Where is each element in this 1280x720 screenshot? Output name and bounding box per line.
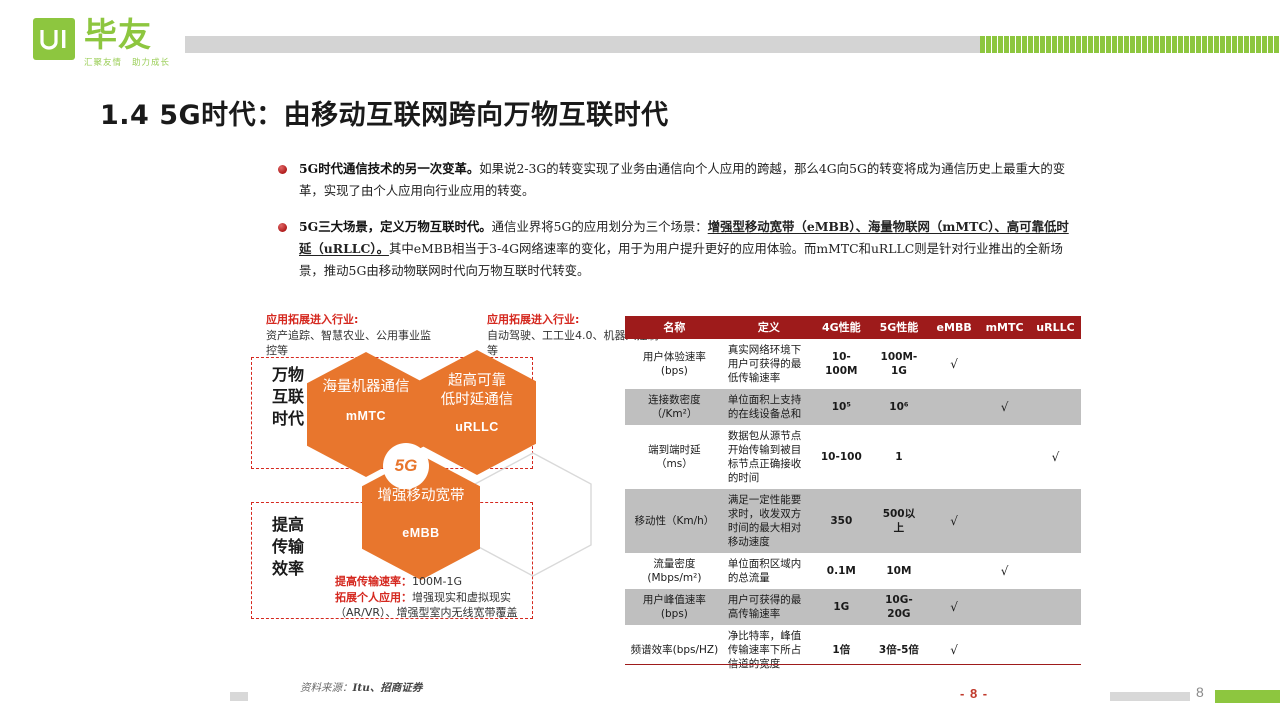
cell-embb-check: √ (929, 339, 979, 389)
cell-4g: 1G (814, 589, 869, 625)
cell-mmtc-check (979, 339, 1030, 389)
cell-4g: 10-100 (814, 425, 869, 489)
ui-logo-icon (33, 18, 75, 60)
cell-4g: 0.1M (814, 553, 869, 589)
side-label-efficiency-l3: 效率 (272, 559, 304, 578)
hexagon-embb-code: eMBB (402, 526, 439, 540)
page-marker-red: - 8 - (960, 686, 988, 701)
table-row: 用户体验速率 (bps) 真实网络环境下用户可获得的最低传输速率 10- 100… (625, 339, 1081, 389)
cell-5g: 1 (869, 425, 929, 489)
cell-urllc-check (1030, 625, 1081, 675)
slogan-left: 汇聚友情 (84, 56, 122, 68)
cell-urllc-check (1030, 339, 1081, 389)
5g-scenario-diagram: 应用拓展进入行业: 资产追踪、智慧农业、公用事业监控等 应用拓展进入行业: 自动… (232, 312, 592, 652)
cell-mmtc-check: √ (979, 389, 1030, 425)
col-header-4g: 4G性能 (814, 316, 869, 339)
cell-4g: 350 (814, 489, 869, 553)
cell-4g: 1倍 (814, 625, 869, 675)
cell-5g-l1: 10G- (885, 594, 913, 606)
cell-5g: 3倍-5倍 (869, 625, 929, 675)
col-header-embb: eMBB (929, 316, 979, 339)
cell-mmtc-check (979, 425, 1030, 489)
col-header-mmtc: mMTC (979, 316, 1030, 339)
side-label-iot-era: 万物 互联 时代 (262, 364, 314, 430)
page-number: 8 (1196, 684, 1204, 700)
cell-5g-l2: 1G (891, 365, 907, 377)
cell-name-l1: 用户体验速率 (643, 351, 706, 363)
table-row: 用户峰值速率 (bps) 用户可获得的最高传输速率 1G 10G- 20G √ (625, 589, 1081, 625)
cell-name-l1: 流量密度 (653, 558, 695, 570)
hexagon-urllc-label-l2: 低时延通信 (441, 391, 514, 410)
side-label-iot-era-l2: 互联 (272, 387, 304, 406)
cell-definition: 单位面积区域内的总流量 (724, 553, 814, 589)
cell-name: 用户体验速率 (bps) (625, 339, 724, 389)
bullet-2-lead: 5G三大场景，定义万物互联时代。 (299, 219, 492, 234)
bullet-1-lead: 5G时代通信技术的另一次变革。 (299, 161, 479, 176)
side-label-efficiency-l2: 传输 (272, 537, 304, 556)
cell-urllc-check (1030, 389, 1081, 425)
cell-name: 频谱效率(bps/HZ) (625, 625, 724, 675)
cell-embb-check: √ (929, 589, 979, 625)
hexagon-embb-label: 增强移动宽带 (378, 487, 465, 506)
cell-definition: 净比特率，峰值传输速率下所占信道的宽度 (724, 625, 814, 675)
brand-name: 毕友 (84, 18, 170, 52)
table-row: 端到端时延 （ms） 数据包从源节点开始传输到被目标节点正确接收的时间 10-1… (625, 425, 1081, 489)
cell-name: 流量密度 (Mbps/m²) (625, 553, 724, 589)
cell-mmtc-check (979, 489, 1030, 553)
header-green-bar (980, 36, 1280, 53)
cell-urllc-check (1030, 553, 1081, 589)
annotation-bottom-title-2: 拓展个人应用： (335, 591, 412, 604)
cell-definition: 单位面积上支持的在线设备总和 (724, 389, 814, 425)
table-body: 用户体验速率 (bps) 真实网络环境下用户可获得的最低传输速率 10- 100… (625, 339, 1081, 675)
header-grey-bar (185, 36, 980, 53)
footer-green-bar (1215, 690, 1280, 703)
cell-name: 移动性（Km/h） (625, 489, 724, 553)
side-label-iot-era-l3: 时代 (272, 409, 304, 428)
table-bottom-rule (625, 664, 1081, 665)
cell-5g-l2: 上 (894, 522, 905, 534)
side-label-efficiency-l1: 提高 (272, 515, 304, 534)
cell-embb-check (929, 425, 979, 489)
col-header-name: 名称 (625, 316, 724, 339)
slide-header: 毕友 汇聚友情 助力成长 (0, 0, 1280, 80)
brand-logo: 毕友 汇聚友情 助力成长 (33, 18, 170, 68)
annotation-bottom: 提高传输速率：100M-1G 拓展个人应用：增强现实和虚拟现实（AR/VR）、增… (335, 574, 550, 621)
cell-4g-l1: 10- (832, 351, 851, 363)
col-header-5g: 5G性能 (869, 316, 929, 339)
cell-name-l2: （/Km²） (651, 408, 697, 420)
hexagon-outline-empty (474, 452, 592, 577)
cell-name: 连接数密度 （/Km²） (625, 389, 724, 425)
5g-kpi-table: 名称 定义 4G性能 5G性能 eMBB mMTC uRLLC 用户体验速率 (… (625, 316, 1081, 675)
source-note: 资料来源：Itu、招商证券 (300, 680, 422, 695)
source-value: Itu、招商证券 (353, 682, 423, 694)
cell-mmtc-check (979, 625, 1030, 675)
bullet-2-body-b: 其中eMBB相当于3-4G网络速率的变化，用于为用户提升更好的应用体验。而mMT… (299, 241, 1063, 278)
cell-5g: 10⁶ (869, 389, 929, 425)
cell-5g-l2: 20G (887, 608, 910, 620)
annotation-bottom-value-1: 100M-1G (412, 575, 462, 588)
bullet-dot-icon (278, 165, 287, 174)
core-5g-badge: 5G (383, 443, 429, 489)
annotation-bottom-title-1: 提高传输速率： (335, 575, 412, 588)
cell-name-l2: (bps) (661, 608, 688, 620)
cell-5g-l1: 500以 (883, 508, 915, 520)
annotation-left-body: 资产追踪、智慧农业、公用事业监控等 (266, 329, 431, 358)
cell-embb-check: √ (929, 489, 979, 553)
cell-urllc-check (1030, 489, 1081, 553)
cell-definition: 满足一定性能要求时，收发双方时间的最大相对移动速度 (724, 489, 814, 553)
cell-name-l2: （ms） (656, 458, 693, 470)
bullet-list: 5G时代通信技术的另一次变革。如果说2-3G的转变实现了业务由通信向个人应用的跨… (278, 158, 1078, 296)
table-row: 流量密度 (Mbps/m²) 单位面积区域内的总流量 0.1M 10M √ (625, 553, 1081, 589)
source-label: 资料来源： (300, 682, 353, 694)
bullet-2-body-a: 通信业界将5G的应用划分为三个场景： (492, 219, 708, 234)
cell-name-l1: 端到端时延 (648, 444, 701, 456)
cell-embb-check: √ (929, 625, 979, 675)
cell-definition: 用户可获得的最高传输速率 (724, 589, 814, 625)
footer-grey-bar (1110, 692, 1190, 701)
annotation-right-title: 应用拓展进入行业: (487, 313, 579, 326)
side-label-efficiency: 提高 传输 效率 (262, 514, 314, 580)
cell-name-l2: (bps) (661, 365, 688, 377)
table-row: 频谱效率(bps/HZ) 净比特率，峰值传输速率下所占信道的宽度 1倍 3倍-5… (625, 625, 1081, 675)
bullet-item-2: 5G三大场景，定义万物互联时代。通信业界将5G的应用划分为三个场景：增强型移动宽… (278, 216, 1078, 282)
slogan-right: 助力成长 (132, 56, 170, 68)
side-label-iot-era-l1: 万物 (272, 365, 304, 384)
bullet-dot-icon (278, 223, 287, 232)
table-header-row: 名称 定义 4G性能 5G性能 eMBB mMTC uRLLC (625, 316, 1081, 339)
col-header-urllc: uRLLC (1030, 316, 1081, 339)
cell-4g: 10- 100M (814, 339, 869, 389)
hexagon-urllc-code: uRLLC (455, 420, 498, 434)
cell-5g: 100M- 1G (869, 339, 929, 389)
cell-4g: 10⁵ (814, 389, 869, 425)
col-header-definition: 定义 (724, 316, 814, 339)
bullet-item-1: 5G时代通信技术的另一次变革。如果说2-3G的转变实现了业务由通信向个人应用的跨… (278, 158, 1078, 202)
cell-definition: 数据包从源节点开始传输到被目标节点正确接收的时间 (724, 425, 814, 489)
cell-urllc-check: √ (1030, 425, 1081, 489)
cell-name-l2: (Mbps/m²) (647, 572, 701, 584)
cell-mmtc-check: √ (979, 553, 1030, 589)
table-row: 移动性（Km/h） 满足一定性能要求时，收发双方时间的最大相对移动速度 350 … (625, 489, 1081, 553)
footer-left-grey-bar (230, 692, 248, 701)
cell-embb-check (929, 553, 979, 589)
cell-embb-check (929, 389, 979, 425)
page-title: 1.4 5G时代：由移动互联网跨向万物互联时代 (100, 93, 669, 132)
cell-4g-l2: 100M (825, 365, 857, 377)
hexagon-mmtc-label: 海量机器通信 (323, 378, 410, 397)
cell-name: 端到端时延 （ms） (625, 425, 724, 489)
table-row: 连接数密度 （/Km²） 单位面积上支持的在线设备总和 10⁵ 10⁶ √ (625, 389, 1081, 425)
annotation-left: 应用拓展进入行业: 资产追踪、智慧农业、公用事业监控等 (266, 312, 436, 359)
cell-name-l1: 用户峰值速率 (643, 594, 706, 606)
cell-5g-l1: 100M- (881, 351, 918, 363)
brand-slogan: 汇聚友情 助力成长 (84, 56, 170, 68)
hexagon-mmtc-code: mMTC (346, 409, 386, 423)
cell-urllc-check (1030, 589, 1081, 625)
cell-5g: 10G- 20G (869, 589, 929, 625)
cell-definition: 真实网络环境下用户可获得的最低传输速率 (724, 339, 814, 389)
hexagon-urllc-label-l1: 超高可靠 (448, 372, 506, 391)
cell-5g: 10M (869, 553, 929, 589)
cell-name: 用户峰值速率 (bps) (625, 589, 724, 625)
annotation-left-title: 应用拓展进入行业: (266, 313, 358, 326)
cell-name-l1: 连接数密度 (648, 394, 701, 406)
cell-mmtc-check (979, 589, 1030, 625)
cell-5g: 500以 上 (869, 489, 929, 553)
